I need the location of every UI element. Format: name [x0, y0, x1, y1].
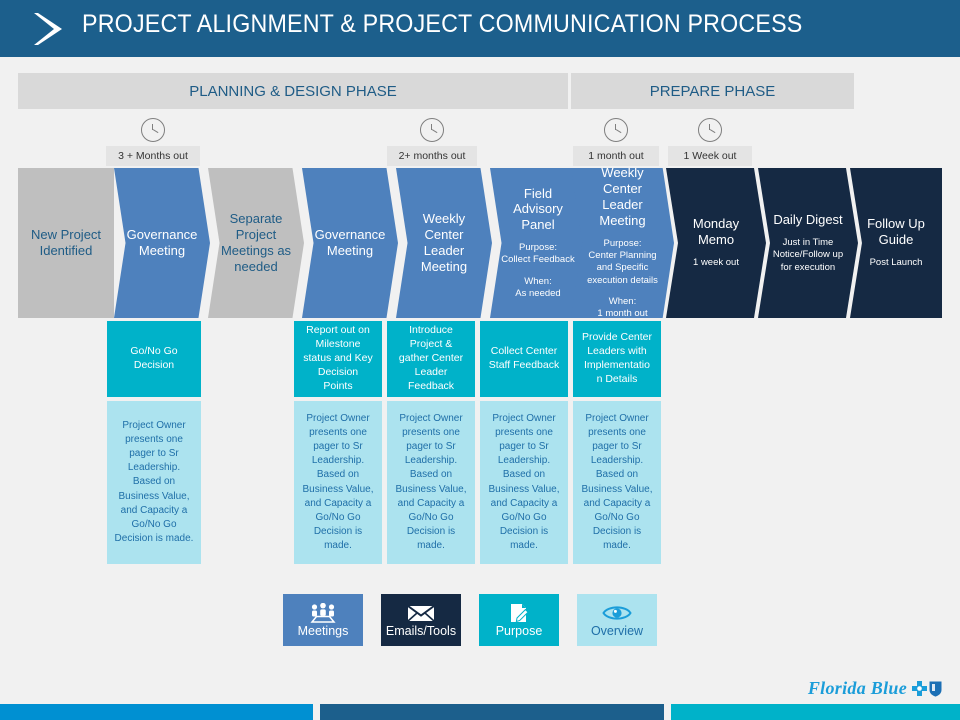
overview-text: Project Owner presents one pager to Sr L… [113, 419, 195, 547]
overview-text: Project Owner presents one pager to Sr L… [300, 412, 376, 554]
legend-item-emails-tools[interactable]: Emails/Tools [381, 594, 461, 646]
purpose-box-provide-center-leaders[interactable]: Provide Center Leaders with Implementati… [573, 321, 661, 397]
overview-box-3[interactable]: Project Owner presents one pager to Sr L… [387, 401, 475, 564]
step-title: Field Advisory Panel [500, 186, 576, 234]
timeline-label: 1 month out [573, 146, 659, 166]
brand-name: Florida Blue [808, 678, 907, 699]
overview-box-1[interactable]: Project Owner presents one pager to Sr L… [107, 401, 201, 564]
clock-icon [420, 118, 444, 142]
legend-label: Meetings [298, 625, 349, 638]
clock-icon [698, 118, 722, 142]
process-step-governance-meeting-1[interactable]: Governance Meeting [114, 168, 210, 318]
clock-icon [604, 118, 628, 142]
process-step-new-project-identified[interactable]: New Project Identified [18, 168, 114, 318]
phase-label: PLANNING & DESIGN PHASE [189, 83, 397, 100]
eye-icon [602, 602, 632, 624]
people-meeting-icon [310, 602, 336, 624]
step-when: When: 1 month out [597, 296, 647, 321]
process-step-weekly-center-leader-meeting-1[interactable]: Weekly Center Leader Meeting [396, 168, 492, 318]
step-title: Weekly Center Leader Meeting [406, 211, 482, 274]
brand-logo: Florida Blue [808, 678, 942, 699]
purpose-text: Report out on Milestone status and Key D… [303, 324, 372, 393]
footer-bar-3 [671, 704, 960, 720]
process-chevron-row: New Project Identified Governance Meetin… [18, 168, 942, 318]
timeline-label: 2+ months out [387, 146, 477, 166]
clock-icon [141, 118, 165, 142]
timeline-marker-1: 2+ months out [387, 118, 477, 166]
process-step-follow-up-guide[interactable]: Follow Up Guide Post Launch [850, 168, 942, 318]
clipboard-pencil-icon [508, 602, 530, 624]
timeline-label: 3 + Months out [106, 146, 200, 166]
brand-marks [912, 681, 942, 697]
process-step-weekly-center-leader-meeting-2[interactable]: Weekly Center Leader Meeting Purpose: Ce… [571, 168, 674, 318]
step-title: Monday Memo [676, 216, 756, 248]
timeline-marker-3: 1 Week out [668, 118, 752, 166]
app-header: PROJECT ALIGNMENT & PROJECT COMMUNICATIO… [0, 0, 960, 57]
step-detail: Post Launch [870, 257, 923, 269]
overview-text: Project Owner presents one pager to Sr L… [579, 412, 655, 554]
process-step-monday-memo[interactable]: Monday Memo 1 week out [666, 168, 766, 318]
step-when: When: As needed [515, 276, 560, 301]
step-title: New Project Identified [31, 227, 101, 259]
step-detail: Just in Time Notice/Follow up for execut… [773, 237, 843, 274]
envelope-icon [407, 602, 435, 624]
step-purpose: Purpose: Center Planning and Specific ex… [587, 238, 658, 287]
purpose-box-introduce-project[interactable]: Introduce Project & gather Center Leader… [387, 321, 475, 397]
overview-text: Project Owner presents one pager to Sr L… [486, 412, 562, 554]
legend-item-purpose[interactable]: Purpose [479, 594, 559, 646]
purpose-box-report-out-milestone[interactable]: Report out on Milestone status and Key D… [294, 321, 382, 397]
purpose-box-collect-center-staff-feedback[interactable]: Collect Center Staff Feedback [480, 321, 568, 397]
step-title: Governance Meeting [127, 227, 198, 259]
cross-icon [912, 681, 927, 696]
process-step-separate-project-meetings[interactable]: Separate Project Meetings as needed [208, 168, 304, 318]
step-title: Governance Meeting [315, 227, 386, 259]
step-purpose: Purpose: Collect Feedback [501, 242, 574, 267]
overview-box-5[interactable]: Project Owner presents one pager to Sr L… [573, 401, 661, 564]
footer-bar-2 [320, 704, 664, 720]
timeline-label: 1 Week out [668, 146, 752, 166]
legend-label: Overview [591, 625, 643, 638]
overview-text: Project Owner presents one pager to Sr L… [393, 412, 469, 554]
legend-label: Emails/Tools [386, 625, 456, 638]
purpose-text: Collect Center Staff Feedback [489, 345, 559, 373]
purpose-text: Go/No Go Decision [130, 345, 177, 373]
process-step-daily-digest[interactable]: Daily Digest Just in Time Notice/Follow … [758, 168, 858, 318]
legend-item-overview[interactable]: Overview [577, 594, 657, 646]
process-step-governance-meeting-2[interactable]: Governance Meeting [302, 168, 398, 318]
purpose-text: Introduce Project & gather Center Leader… [399, 324, 463, 393]
chevron-right-icon [32, 11, 66, 47]
timeline-marker-0: 3 + Months out [106, 118, 200, 166]
legend-item-meetings[interactable]: Meetings [283, 594, 363, 646]
phase-bar-planning-design: PLANNING & DESIGN PHASE [18, 73, 568, 109]
step-title: Daily Digest [773, 212, 842, 228]
footer-bar-1 [0, 704, 313, 720]
step-title: Separate Project Meetings as needed [221, 211, 291, 274]
process-step-field-advisory-panel[interactable]: Field Advisory Panel Purpose: Collect Fe… [490, 168, 586, 318]
step-detail: 1 week out [693, 257, 739, 269]
timeline-marker-2: 1 month out [573, 118, 659, 166]
legend-label: Purpose [496, 625, 543, 638]
overview-box-4[interactable]: Project Owner presents one pager to Sr L… [480, 401, 568, 564]
shield-icon [929, 681, 942, 697]
purpose-text: Provide Center Leaders with Implementati… [582, 331, 652, 386]
step-title: Weekly Center Leader Meeting [581, 165, 664, 228]
phase-bar-prepare: PREPARE PHASE [571, 73, 854, 109]
overview-box-2[interactable]: Project Owner presents one pager to Sr L… [294, 401, 382, 564]
phase-label: PREPARE PHASE [650, 83, 776, 100]
step-title: Follow Up Guide [867, 216, 925, 248]
page-title: PROJECT ALIGNMENT & PROJECT COMMUNICATIO… [82, 10, 802, 39]
purpose-box-go-no-go[interactable]: Go/No Go Decision [107, 321, 201, 397]
